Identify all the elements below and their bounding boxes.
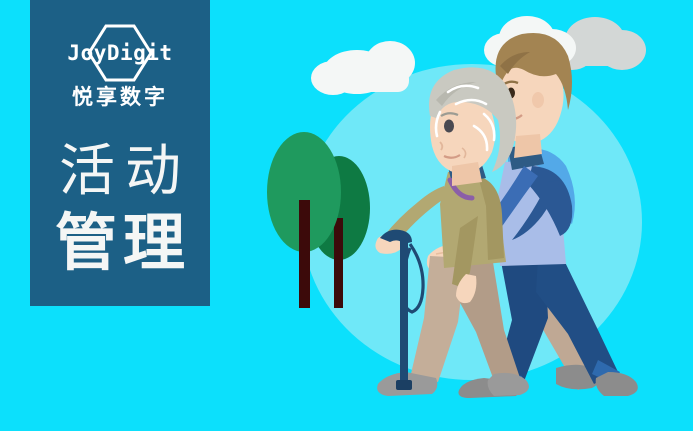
title-panel: JoyDigit 悦享数字 活动 管理 [30,0,210,306]
brand-logo: JoyDigit [47,28,193,78]
brand-block: JoyDigit 悦享数字 [30,28,210,108]
page-title: 活动 管理 [30,144,210,274]
page-title-line2: 管理 [49,212,191,274]
company-name-cn: 悦享数字 [72,87,168,108]
woman-eye [444,120,454,133]
logo-wordmark: JoyDigit [67,43,172,64]
page-title-line1: 活动 [49,144,191,200]
poster-canvas: JoyDigit 悦享数字 活动 管理 活动管理 — 年轻志愿者陪伴拄拐杖的老奶… [0,0,693,431]
